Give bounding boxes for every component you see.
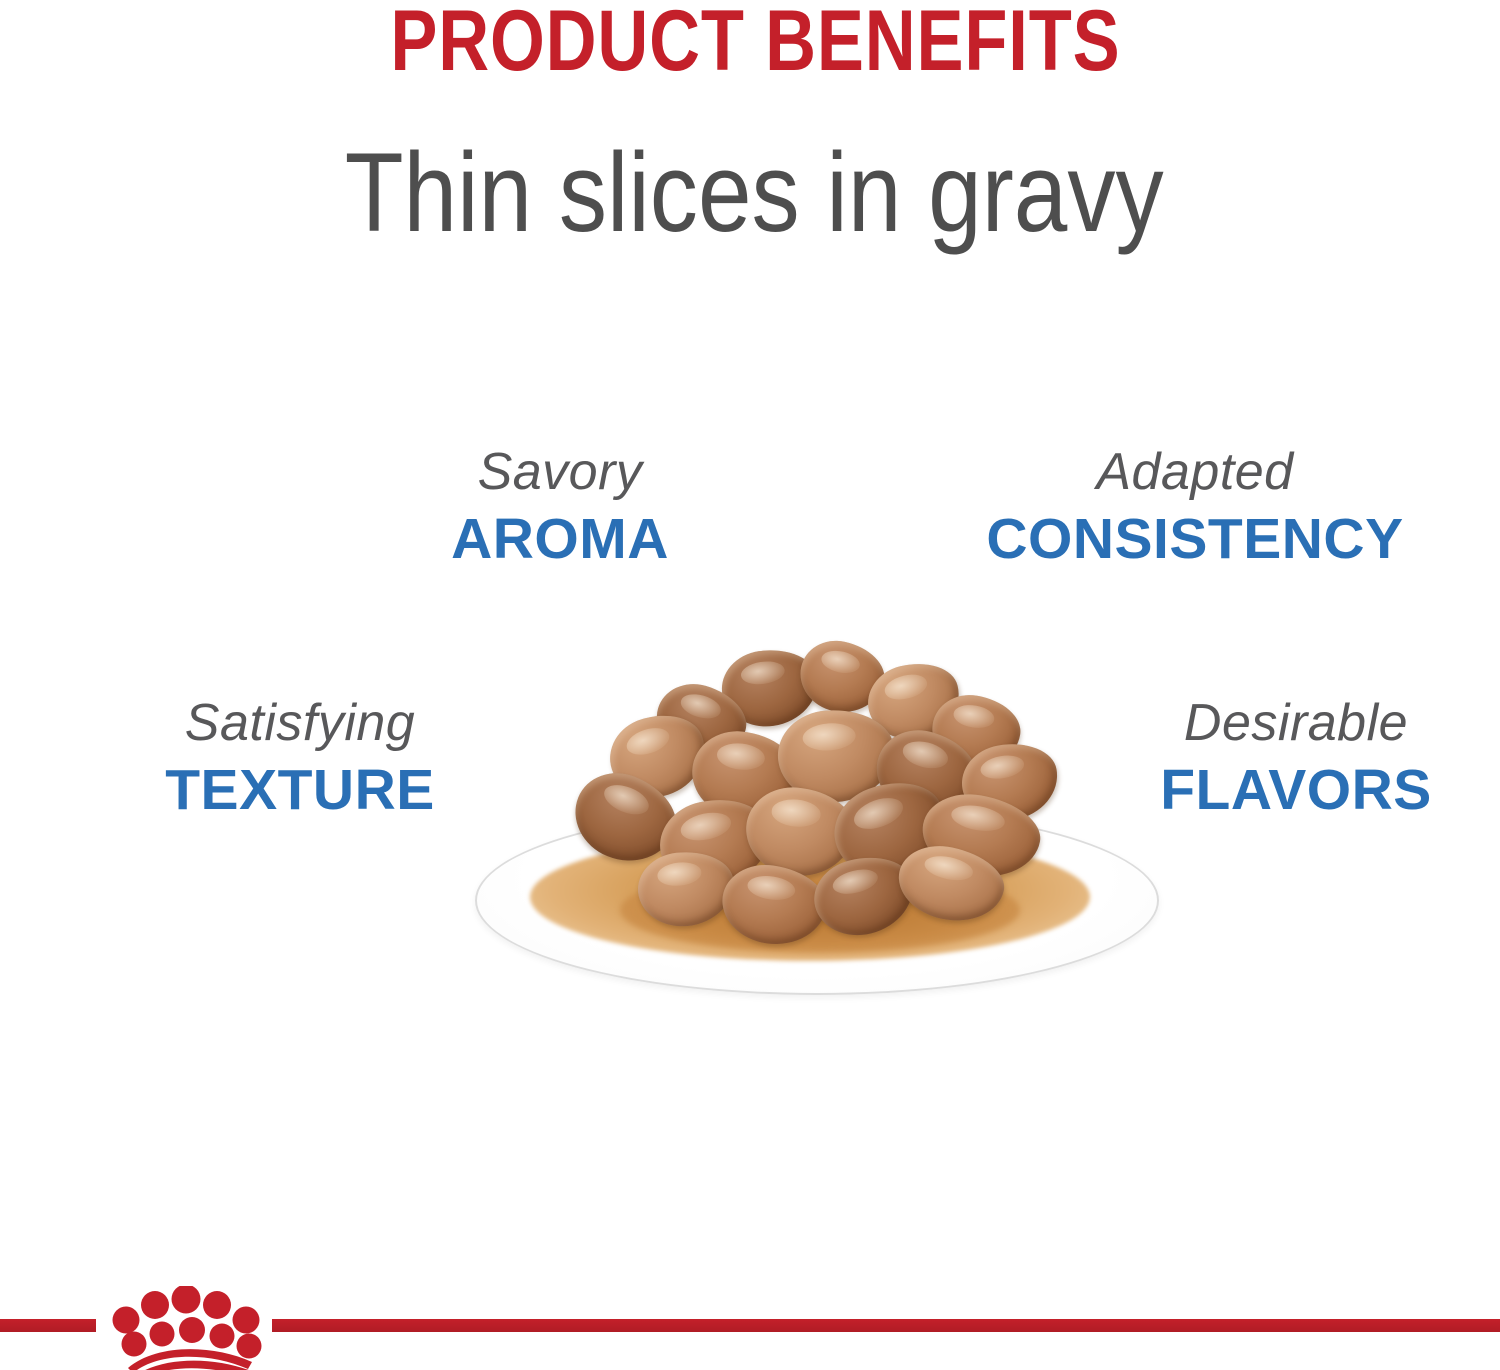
product-benefits-page: PRODUCT BENEFITS Thin slices in gravy Sa… [0,0,1500,1370]
benefit-texture: Satisfying TEXTURE [100,697,500,819]
benefit-consistency-qualifier: Adapted [930,446,1460,498]
benefit-aroma-qualifier: Savory [355,446,765,498]
benefit-consistency: Adapted CONSISTENCY [930,446,1460,568]
benefit-aroma: Savory AROMA [355,446,765,568]
royal-canin-crown-logo [100,1286,268,1370]
benefit-texture-label: TEXTURE [100,762,500,819]
brand-rule-left [0,1319,96,1332]
page-subtitle: Thin slices in gravy [109,128,1399,257]
brand-rule-right [272,1319,1500,1332]
benefit-consistency-label: CONSISTENCY [930,511,1460,568]
benefit-aroma-label: AROMA [355,511,765,568]
benefit-texture-qualifier: Satisfying [100,697,500,749]
product-food-image [470,620,1160,995]
page-title: PRODUCT BENEFITS [140,0,1370,91]
